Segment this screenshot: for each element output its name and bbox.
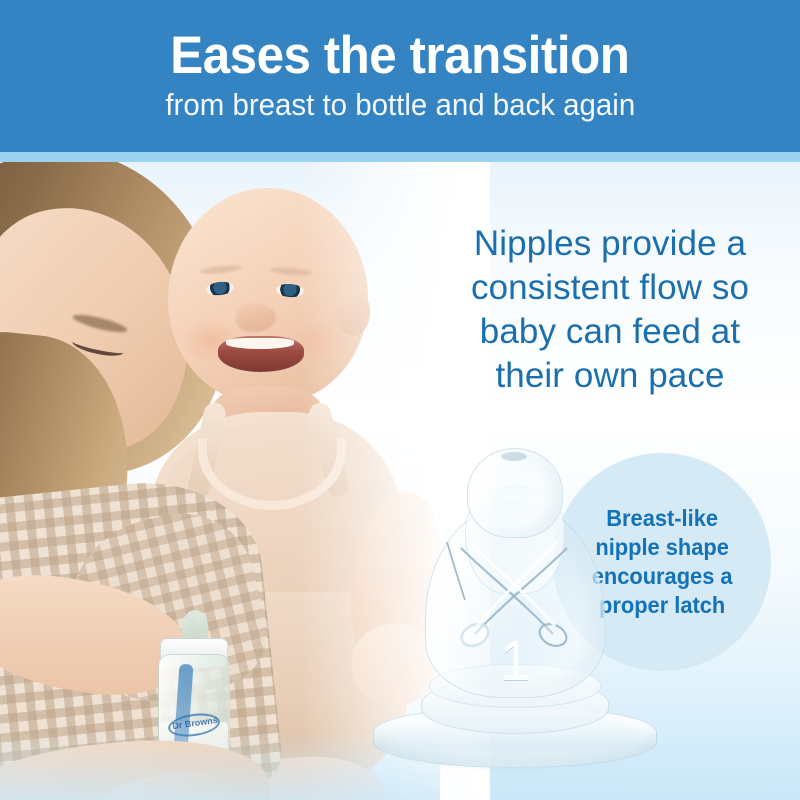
headline-line-3: baby can feed at <box>430 310 790 354</box>
headline-line-2: consistent flow so <box>430 266 790 310</box>
page-subtitle: from breast to bottle and back again <box>165 88 635 122</box>
nipple-flow-level-marking: 1 <box>355 628 675 693</box>
page-title: Eases the transition <box>170 29 629 83</box>
marketing-infographic: Eases the transition from breast to bott… <box>0 0 800 800</box>
nipple-flow-hole <box>501 452 527 461</box>
header-banner: Eases the transition from breast to bott… <box>0 0 800 152</box>
baby-teeth <box>226 338 294 349</box>
headline-line-1: Nipples provide a <box>430 222 790 266</box>
product-nipple-image: 1 <box>355 442 675 800</box>
main-stage: Dr Browns Nipples provide a consistent f… <box>0 162 800 800</box>
banner-accent-strip <box>0 152 800 162</box>
headline-line-4: their own pace <box>430 354 790 398</box>
feature-headline: Nipples provide a consistent flow so bab… <box>430 222 790 398</box>
